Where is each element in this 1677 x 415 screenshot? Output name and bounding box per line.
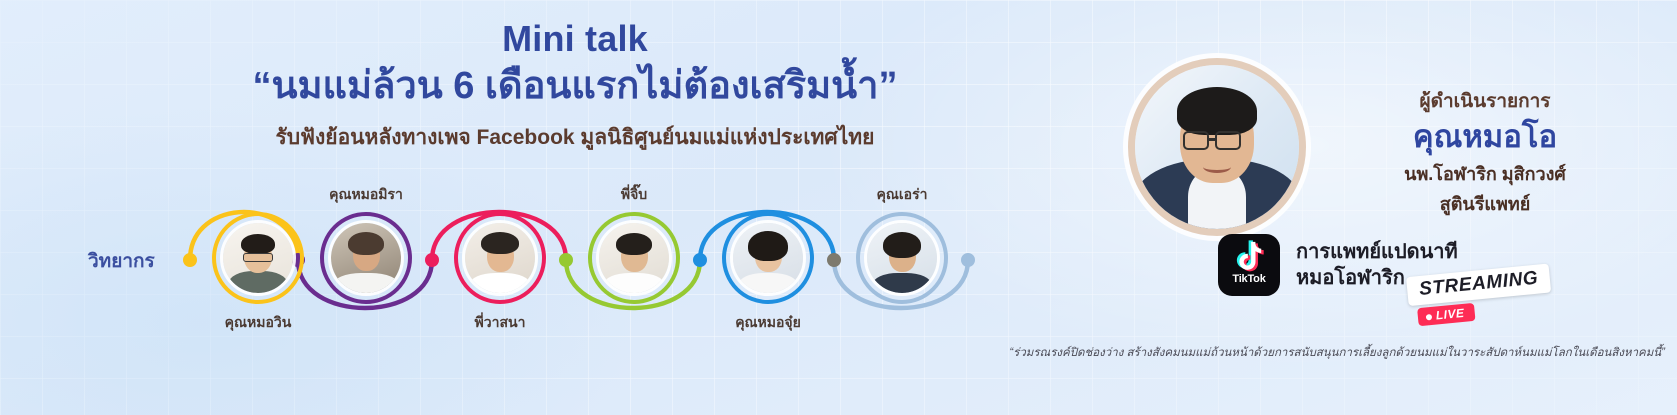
speaker-avatar-ring-2 [320,212,412,304]
tiktok-icon[interactable]: TikTok [1218,234,1280,296]
footer-note: “ร่วมรณรงค์ปิดช่องว่าง สร้างสังคมนมแม่ถ้… [845,345,1665,361]
speaker-name-6: คุณเอร่า [877,184,928,206]
speaker-card-2[interactable]: คุณหมอมิรา [318,212,414,304]
host-role-label: ผู้ดำเนินรายการ [1310,86,1660,116]
speaker-card-3[interactable]: พี่วาสนา [452,212,548,304]
speaker-avatar-ring-3 [454,212,546,304]
avatar-6 [867,223,937,293]
page-title: Mini talk [0,18,1150,60]
speaker-name-2: คุณหมอมิรา [329,184,403,206]
speaker-avatar-ring-6 [856,212,948,304]
avatar-3 [465,223,535,293]
speaker-card-4[interactable]: พี่จิ๊บ [586,212,682,304]
speaker-avatar-ring-4 [588,212,680,304]
speakers-label: วิทยากร [88,246,155,276]
speaker-name-4: พี่จิ๊บ [621,184,647,206]
live-label: LIVE [1435,306,1465,323]
speaker-name-3: พี่วาสนา [475,312,526,334]
host-info-block: ผู้ดำเนินรายการ คุณหมอโอ นพ.โอฬาริก มุสิ… [1310,86,1660,218]
speaker-avatar-ring-5 [722,212,814,304]
avatar-5 [733,223,803,293]
speaker-avatar-ring-1 [212,212,304,304]
page-title-thai: “นมแม่ล้วน 6 เดือนแรกไม่ต้องเสริมน้ำ” [0,62,1150,111]
host-specialty: สูตินรีแพทย์ [1310,189,1660,218]
live-dot-icon [1426,314,1433,321]
avatar-4 [599,223,669,293]
avatar-2 [331,223,401,293]
headline-block: Mini talk “นมแม่ล้วน 6 เดือนแรกไม่ต้องเส… [0,18,1150,151]
tiktok-wordmark: TikTok [1232,273,1265,285]
host-nickname: คุณหมอโอ [1310,120,1660,154]
webinar-promo-banner: Mini talk “นมแม่ล้วน 6 เดือนแรกไม่ต้องเส… [0,0,1677,415]
host-avatar [1128,58,1306,236]
tiktok-line-1: การแพทย์แปดนาที [1296,239,1458,265]
host-fullname: นพ.โอฬาริก มุสิกวงศ์ [1310,159,1660,188]
page-subtitle: รับฟังย้อนหลังทางเพจ Facebook มูลนิธิศูน… [0,124,1150,151]
speaker-name-1: คุณหมอวิน [225,312,292,334]
live-badge: LIVE [1417,303,1475,326]
speaker-name-5: คุณหมอจุ๋ย [735,312,801,334]
speaker-card-5[interactable]: คุณหมอจุ๋ย [720,212,816,304]
avatar-1 [223,223,293,293]
speaker-card-6[interactable]: คุณเอร่า [854,212,950,304]
speaker-card-1[interactable]: คุณหมอวิน [210,212,306,304]
glasses-icon [1183,131,1209,150]
